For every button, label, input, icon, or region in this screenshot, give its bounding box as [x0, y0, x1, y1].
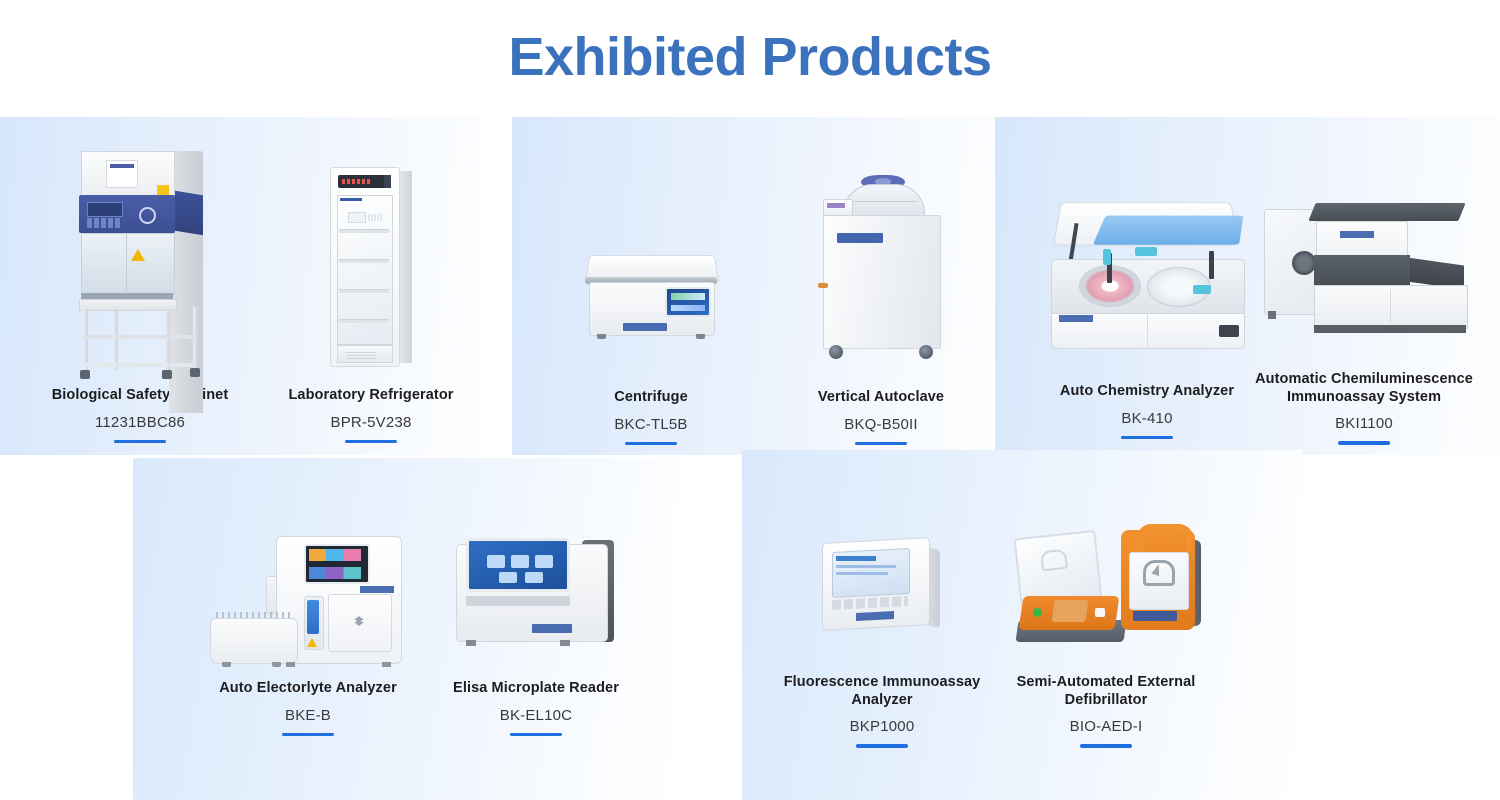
product-model: BIO-AED-I — [986, 718, 1226, 735]
product-vertical-autoclave[interactable]: Vertical Autoclave BKQ-B50II — [770, 139, 992, 445]
auto-electrolyte-analyzer-illustration — [210, 532, 406, 682]
product-name: Biological Safety Cabinet — [18, 387, 262, 405]
accent-underline — [345, 440, 397, 444]
product-laboratory-refrigerator[interactable]: Laboratory Refrigerator BPR-5V238 — [262, 139, 480, 443]
product-name: Auto Electorlyte Analyzer — [165, 680, 451, 698]
exhibited-products-page: Exhibited Products — [0, 0, 1500, 800]
product-biological-safety-cabinet[interactable]: Biological Safety Cabinet 11231BBC86 — [18, 139, 262, 443]
product-image-auto-chemistry-analyzer — [1025, 139, 1269, 383]
product-name: Laboratory Refrigerator — [262, 387, 480, 405]
product-image-chemiluminescence-immunoassay-system — [1245, 139, 1483, 371]
product-model: BK-EL10C — [411, 707, 661, 724]
product-card-2: Centrifuge BKC-TL5B Vertical Autoclave B… — [512, 117, 993, 455]
aed-illustration — [1011, 528, 1201, 664]
product-centrifuge[interactable]: Centrifuge BKC-TL5B — [540, 139, 762, 445]
vertical-autoclave-illustration — [815, 175, 947, 375]
product-model: BK-410 — [1025, 410, 1269, 427]
product-name: Auto Chemistry Analyzer — [1025, 383, 1269, 401]
product-image-centrifuge — [540, 139, 762, 389]
product-name: Elisa Microplate Reader — [411, 680, 661, 698]
accent-underline — [282, 733, 334, 737]
centrifuge-illustration — [581, 247, 721, 347]
product-model: 11231BBC86 — [18, 414, 262, 431]
product-model: BKP1000 — [764, 718, 1000, 735]
accent-underline — [1080, 744, 1132, 748]
product-image-semi-automated-external-defibrillator — [986, 512, 1226, 674]
accent-underline — [114, 440, 166, 444]
product-name: Centrifuge — [540, 389, 762, 407]
accent-underline — [1121, 436, 1173, 440]
product-name: Semi-Automated External Defibrillator — [986, 674, 1226, 709]
product-name: Automatic Chemiluminescence Immunoassay … — [1245, 371, 1483, 406]
product-model: BPR-5V238 — [262, 414, 480, 431]
product-model: BKI1100 — [1245, 415, 1483, 432]
laboratory-refrigerator-illustration — [328, 167, 414, 367]
product-name: Fluorescence Immunoassay Analyzer — [764, 674, 1000, 709]
product-semi-automated-external-defibrillator[interactable]: Semi-Automated External Defibrillator BI… — [986, 512, 1226, 748]
product-card-5: Fluorescence Immunoassay Analyzer BKP100… — [742, 450, 1302, 800]
product-auto-chemistry-analyzer[interactable]: Auto Chemistry Analyzer BK-410 — [1025, 139, 1269, 439]
product-model: BKQ-B50II — [770, 416, 992, 433]
product-fluorescence-immunoassay-analyzer[interactable]: Fluorescence Immunoassay Analyzer BKP100… — [764, 512, 1000, 748]
product-card-3: Auto Chemistry Analyzer BK-410 — [995, 117, 1500, 455]
accent-underline — [855, 442, 907, 446]
product-image-laboratory-refrigerator — [262, 139, 480, 387]
product-image-auto-electrolyte-analyzer — [165, 514, 451, 680]
accent-underline — [510, 733, 562, 737]
product-image-elisa-microplate-reader — [411, 514, 661, 680]
product-elisa-microplate-reader[interactable]: Elisa Microplate Reader BK-EL10C — [411, 514, 661, 736]
auto-chemistry-analyzer-illustration — [1043, 197, 1251, 357]
fluorescence-immunoassay-analyzer-illustration — [822, 540, 942, 650]
product-auto-electrolyte-analyzer[interactable]: Auto Electorlyte Analyzer BKE-B — [165, 514, 451, 736]
product-card-1: Biological Safety Cabinet 11231BBC86 — [0, 117, 481, 455]
chemiluminescence-immunoassay-system-illustration — [1258, 199, 1470, 345]
product-image-vertical-autoclave — [770, 139, 992, 389]
product-image-biological-safety-cabinet — [18, 139, 262, 387]
product-model: BKC-TL5B — [540, 416, 762, 433]
product-image-fluorescence-immunoassay-analyzer — [764, 512, 1000, 674]
product-model: BKE-B — [165, 707, 451, 724]
elisa-microplate-reader-illustration — [456, 536, 616, 660]
accent-underline — [1338, 441, 1390, 445]
product-card-4: Auto Electorlyte Analyzer BKE-B Eli — [133, 458, 678, 800]
page-title: Exhibited Products — [0, 26, 1500, 88]
accent-underline — [625, 442, 677, 446]
product-name: Vertical Autoclave — [770, 389, 992, 407]
product-chemiluminescence-immunoassay-system[interactable]: Automatic Chemiluminescence Immunoassay … — [1245, 139, 1483, 445]
accent-underline — [856, 744, 908, 748]
biological-safety-cabinet-illustration — [65, 149, 215, 381]
